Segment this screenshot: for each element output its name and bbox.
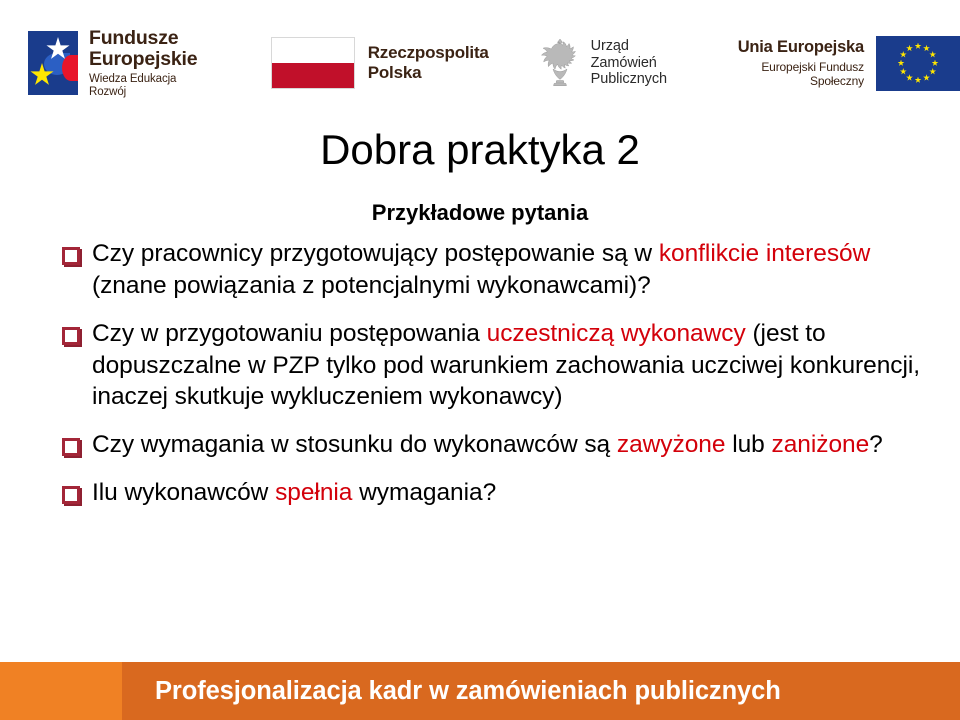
bullet-text-segment: Czy wymagania w stosunku do wykonawców s… — [92, 431, 617, 458]
bullet-text-segment: (znane powiązania z potencjalnymi wykona… — [92, 272, 651, 299]
bullet-square-icon — [62, 327, 80, 345]
logo-fundusze-europejskie: Fundusze Europejskie Wiedza Edukacja Roz… — [28, 22, 214, 104]
logo-fundusze-europejskie-text: Fundusze Europejskie Wiedza Edukacja Roz… — [89, 28, 214, 98]
bullet-text: Czy pracownicy przygotowujący postępowan… — [92, 238, 922, 302]
footer-banner: Profesjonalizacja kadr w zamówieniach pu… — [0, 662, 960, 720]
bullet-text-segment: spełnia — [275, 479, 352, 506]
ue-line-1: Unia Europejska — [708, 38, 864, 57]
eu-star-icon — [906, 74, 913, 81]
page-title: Dobra praktyka 2 — [0, 126, 960, 174]
footer-text: Profesjonalizacja kadr w zamówieniach pu… — [155, 677, 781, 706]
eu-star-icon — [929, 68, 936, 75]
fe-line-2: Europejskie — [89, 49, 214, 70]
bullet-text-segment: ? — [869, 431, 883, 458]
eu-star-icon — [923, 45, 930, 52]
bullet-list: Czy pracownicy przygotowujący postępowan… — [62, 238, 922, 509]
slide-canvas: Fundusze Europejskie Wiedza Edukacja Roz… — [0, 0, 960, 720]
polish-eagle-icon — [537, 35, 583, 91]
eu-star-icon — [923, 74, 930, 81]
uzp-line-3: Publicznych — [591, 71, 667, 88]
bullet-text-segment: Czy w przygotowaniu postępowania — [92, 320, 487, 347]
fe-red-swoosh-shape — [62, 55, 78, 81]
bullet-text: Czy wymagania w stosunku do wykonawców s… — [92, 429, 883, 461]
eu-star-icon — [915, 77, 922, 84]
eu-flag-icon — [876, 36, 960, 91]
bullet-item: Czy wymagania w stosunku do wykonawców s… — [62, 429, 922, 461]
bullet-text-segment: Ilu wykonawców — [92, 479, 275, 506]
footer-main-band: Profesjonalizacja kadr w zamówieniach pu… — [122, 662, 960, 720]
bullet-text-segment: lub — [725, 431, 771, 458]
rp-line-2: Polska — [368, 63, 489, 83]
footer-accent-block — [0, 662, 122, 720]
logo-uzp-text: Urząd Zamówień Publicznych — [591, 38, 667, 88]
bullet-text-segment: wymagania? — [352, 479, 496, 506]
polish-flag-icon — [271, 37, 355, 89]
eu-star-icon — [929, 51, 936, 58]
eu-star-icon — [900, 51, 907, 58]
bullet-text-segment: zaniżone — [772, 431, 870, 458]
eu-star-icon — [900, 68, 907, 75]
uzp-line-2: Zamówień — [591, 55, 667, 72]
logo-rzeczpospolita-polska: Rzeczpospolita Polska — [271, 22, 489, 104]
logo-unia-europejska-text: Unia Europejska Europejski Fundusz Społe… — [708, 38, 864, 88]
bullet-square-icon — [62, 247, 80, 265]
logo-urzad-zamowien-publicznych: Urząd Zamówień Publicznych — [537, 22, 667, 104]
bullet-item: Ilu wykonawców spełnia wymagania? — [62, 477, 922, 509]
bullet-text-segment: uczestniczą wykonawcy — [487, 320, 746, 347]
bullet-text: Ilu wykonawców spełnia wymagania? — [92, 477, 496, 509]
bullet-text-segment: zawyżone — [617, 431, 726, 458]
eu-star-icon — [898, 60, 905, 67]
flag-white-stripe — [272, 38, 354, 63]
bullet-text-segment: Czy pracownicy przygotowujący postępowan… — [92, 240, 659, 267]
uzp-line-1: Urząd — [591, 38, 667, 55]
eu-star-icon — [906, 45, 913, 52]
logo-unia-europejska: Unia Europejska Europejski Fundusz Społe… — [708, 22, 960, 104]
bullet-square-icon — [62, 486, 80, 504]
rp-line-1: Rzeczpospolita — [368, 43, 489, 63]
bullet-text-segment: konflikcie interesów — [659, 240, 870, 267]
fe-line-3: Wiedza Edukacja Rozwój — [89, 73, 214, 98]
eu-star-icon — [932, 60, 939, 67]
logo-rzeczpospolita-polska-text: Rzeczpospolita Polska — [368, 43, 489, 82]
page-subtitle: Przykładowe pytania — [0, 200, 960, 226]
fundusze-europejskie-emblem-icon — [28, 31, 78, 95]
fe-line-1: Fundusze — [89, 28, 214, 49]
bullet-square-icon — [62, 438, 80, 456]
ue-line-2: Europejski Fundusz Społeczny — [708, 60, 864, 88]
bullet-item: Czy pracownicy przygotowujący postępowan… — [62, 238, 922, 302]
bullet-item: Czy w przygotowaniu postępowania uczestn… — [62, 318, 922, 414]
flag-red-stripe — [272, 63, 354, 88]
bullet-text: Czy w przygotowaniu postępowania uczestn… — [92, 318, 922, 414]
eu-star-icon — [915, 43, 922, 50]
header-logo-bar: Fundusze Europejskie Wiedza Edukacja Roz… — [0, 22, 960, 104]
